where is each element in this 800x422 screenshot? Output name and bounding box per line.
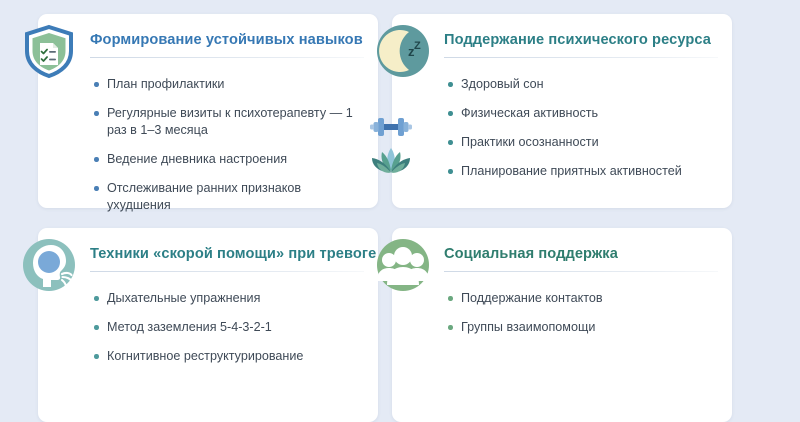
list-item: Ведение дневника настроения xyxy=(94,151,364,168)
list-item: Планирование приятных активностей xyxy=(448,163,718,180)
list-item: Отслеживание ранних признаков ухудшения xyxy=(94,180,364,214)
card-anxiety-first-aid[interactable]: Техники «скорой помощи» при тревоге Дыха… xyxy=(38,228,378,422)
list-item: Метод заземления 5-4-3-2-1 xyxy=(94,319,364,336)
card-title: Формирование устойчивых навыков xyxy=(90,32,364,48)
bullet-list: Здоровый сон Физическая активность Практ… xyxy=(392,70,732,180)
title-divider xyxy=(444,57,718,58)
breathing-head-icon xyxy=(20,236,78,294)
moon-sleep-icon: z Z xyxy=(374,22,432,80)
title-divider xyxy=(90,271,364,272)
card-title: Поддержание психического ресурса xyxy=(444,32,718,48)
card-title: Техники «скорой помощи» при тревоге xyxy=(90,246,364,262)
card-header: z Z Поддержание психического ресурса xyxy=(392,14,732,70)
card-social-support[interactable]: Социальная поддержка Поддержание контакт… xyxy=(392,228,732,422)
bullet-list: План профилактики Регулярные визиты к пс… xyxy=(38,70,378,214)
bullet-list: Дыхательные упражнения Метод заземления … xyxy=(38,284,378,365)
list-item: Физическая активность xyxy=(448,105,718,122)
card-header: Формирование устойчивых навыков xyxy=(38,14,378,70)
title-divider xyxy=(90,57,364,58)
list-item: Поддержание контактов xyxy=(448,290,718,307)
card-header: Техники «скорой помощи» при тревоге xyxy=(38,228,378,284)
title-divider xyxy=(444,271,718,272)
list-item: Регулярные визиты к психотерапевту — 1 р… xyxy=(94,105,364,139)
list-item: Когнитивное реструктурирование xyxy=(94,348,364,365)
people-group-icon xyxy=(374,236,432,294)
svg-text:Z: Z xyxy=(414,40,421,52)
lotus-icon xyxy=(368,144,414,178)
card-skills[interactable]: Формирование устойчивых навыков План про… xyxy=(38,14,378,208)
list-item: План профилактики xyxy=(94,76,364,93)
card-title: Социальная поддержка xyxy=(444,246,718,262)
cards-grid: Формирование устойчивых навыков План про… xyxy=(38,14,762,422)
list-item: Здоровый сон xyxy=(448,76,718,93)
card-mental-resource[interactable]: z Z Поддержание психического ресурса xyxy=(392,14,732,208)
list-item: Группы взаимопомощи xyxy=(448,319,718,336)
list-item: Практики осознанности xyxy=(448,134,718,151)
shield-checklist-icon xyxy=(20,22,78,80)
card-header: Социальная поддержка xyxy=(392,228,732,284)
bullet-list: Поддержание контактов Группы взаимопомощ… xyxy=(392,284,732,336)
dumbbell-icon xyxy=(368,110,414,144)
list-item: Дыхательные упражнения xyxy=(94,290,364,307)
